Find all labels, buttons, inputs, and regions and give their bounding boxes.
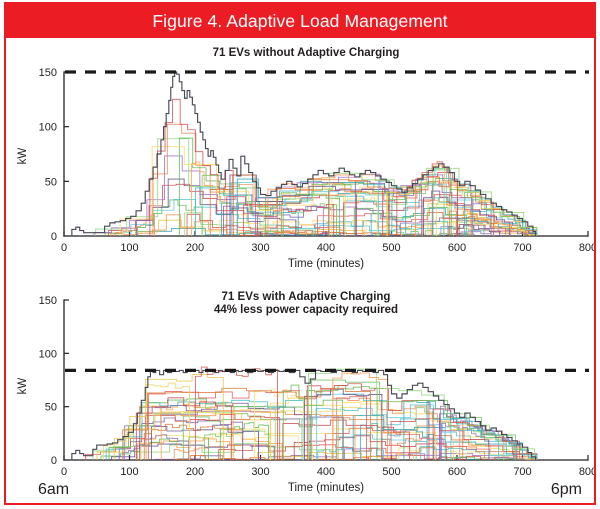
chart-subtitle: 44% less power capacity required <box>214 304 398 316</box>
x-tick-label: 100 <box>120 466 138 478</box>
x-tick-label: 600 <box>448 466 466 478</box>
y-tick-label: 150 <box>39 67 57 79</box>
figure-title: Figure 4. Adaptive Load Management <box>152 11 447 32</box>
y-tick-label: 0 <box>51 231 57 243</box>
x-tick-label: 600 <box>448 242 466 254</box>
x-tick-label: 400 <box>317 242 335 254</box>
ev-load-trace <box>174 446 224 460</box>
x-axis-title: Time (minutes) <box>288 482 364 494</box>
y-axis-title: kW <box>17 378 29 395</box>
y-tick-label: 50 <box>45 402 57 414</box>
x-tick-label: 800 <box>579 466 594 478</box>
y-tick-label: 100 <box>39 348 57 360</box>
x-tick-label: 700 <box>513 466 531 478</box>
chart-with-adaptive-charging: 71 EVs with Adaptive Charging44% less po… <box>6 278 594 503</box>
x-tick-label: 500 <box>382 466 400 478</box>
ev-load-trace <box>86 415 280 460</box>
x-tick-label: 800 <box>579 242 594 254</box>
x-tick-label: 400 <box>317 466 335 478</box>
y-tick-label: 150 <box>39 295 57 307</box>
charts-area: 71 EVs without Adaptive Charging05010015… <box>6 38 594 503</box>
figure-header-bar: Figure 4. Adaptive Load Management <box>6 4 594 38</box>
chart-title: 71 EVs without Adaptive Charging <box>213 47 400 59</box>
ev-load-trace <box>153 124 281 236</box>
ev-series-group <box>94 99 537 236</box>
x-tick-label: 100 <box>120 242 138 254</box>
start-time-label: 6am <box>38 481 69 499</box>
x-tick-label: 200 <box>186 242 204 254</box>
x-tick-label: 300 <box>251 242 269 254</box>
y-axis-title: kW <box>17 148 29 165</box>
chart-title: 71 EVs with Adaptive Charging <box>222 291 391 303</box>
end-time-label: 6pm <box>551 481 582 499</box>
x-tick-label: 0 <box>61 242 67 254</box>
figure-frame: Figure 4. Adaptive Load Management 71 EV… <box>4 2 596 505</box>
x-tick-label: 0 <box>61 466 67 478</box>
x-tick-label: 700 <box>513 242 531 254</box>
ev-load-trace <box>137 444 332 460</box>
y-tick-label: 0 <box>51 455 57 467</box>
x-tick-label: 300 <box>251 466 269 478</box>
x-axis-title: Time (minutes) <box>288 258 364 270</box>
ev-load-trace <box>230 175 388 236</box>
x-tick-label: 200 <box>186 466 204 478</box>
y-tick-label: 50 <box>45 176 57 188</box>
chart-without-adaptive-charging: 71 EVs without Adaptive Charging05010015… <box>6 38 594 278</box>
y-tick-label: 100 <box>39 122 57 134</box>
x-tick-label: 500 <box>382 242 400 254</box>
